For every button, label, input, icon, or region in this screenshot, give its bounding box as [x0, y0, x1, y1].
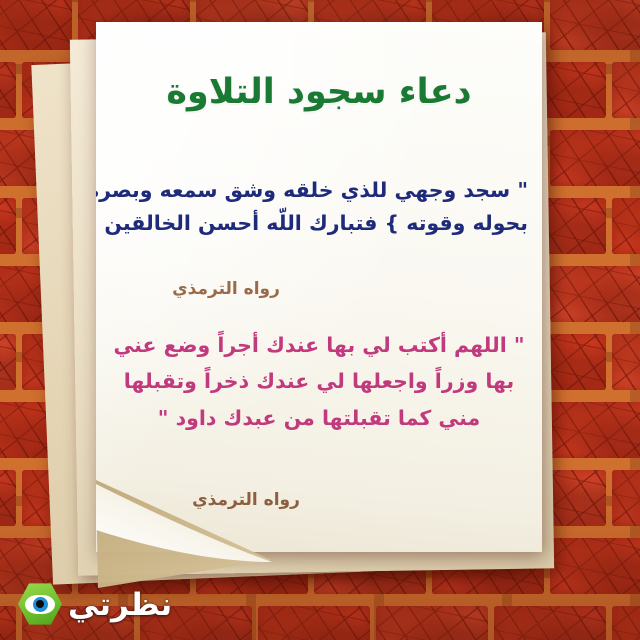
hadith-two-line-3: مني كما تقبلتها من عبدك داود " [110, 400, 528, 436]
brick [0, 334, 16, 390]
brick [0, 606, 16, 640]
hadith-one-line-2: بحوله وقوته } فتبارك اللّه أحسن الخالقين… [110, 207, 528, 240]
eye-hexagon-icon [16, 582, 62, 628]
hadith-two-line-2: بها وزراً واجعلها لي عندك ذخراً وتقبلها [110, 363, 528, 399]
brick [612, 470, 640, 526]
eye-pupil [36, 600, 44, 608]
brick [550, 538, 640, 594]
page-title: دعاء سجود التلاوة [96, 72, 542, 112]
watermark-label: نظرتي [68, 587, 172, 623]
brick [494, 606, 606, 640]
brick [612, 606, 640, 640]
hadith-two-line-1: " اللهم أكتب لي بها عندك أجراً وضع عني [110, 327, 528, 363]
brick [612, 334, 640, 390]
image-canvas: دعاء سجود التلاوة " سجد وجهي للذي خلقه و… [0, 0, 640, 640]
brick [0, 470, 16, 526]
hadith-one-line-1: " سجد وجهي للذي خلقه وشق سمعه وبصره [110, 174, 528, 207]
brick [550, 130, 640, 186]
hadith-one-attribution: رواه الترمذي [96, 279, 356, 299]
watermark: نظرتي [16, 582, 172, 628]
brick [376, 606, 488, 640]
brick [0, 198, 16, 254]
brick [612, 62, 640, 118]
eye-white [25, 595, 55, 614]
hexagon-shape [18, 582, 62, 626]
hadith-one-text: " سجد وجهي للذي خلقه وشق سمعه وبصره بحول… [110, 174, 528, 240]
brick [550, 266, 640, 322]
brick [0, 62, 16, 118]
eye-iris [33, 597, 48, 612]
brick [612, 198, 640, 254]
brick [0, 0, 72, 50]
brick [550, 402, 640, 458]
hadith-two-text: " اللهم أكتب لي بها عندك أجراً وضع عني ب… [110, 327, 528, 436]
brick [550, 0, 640, 50]
